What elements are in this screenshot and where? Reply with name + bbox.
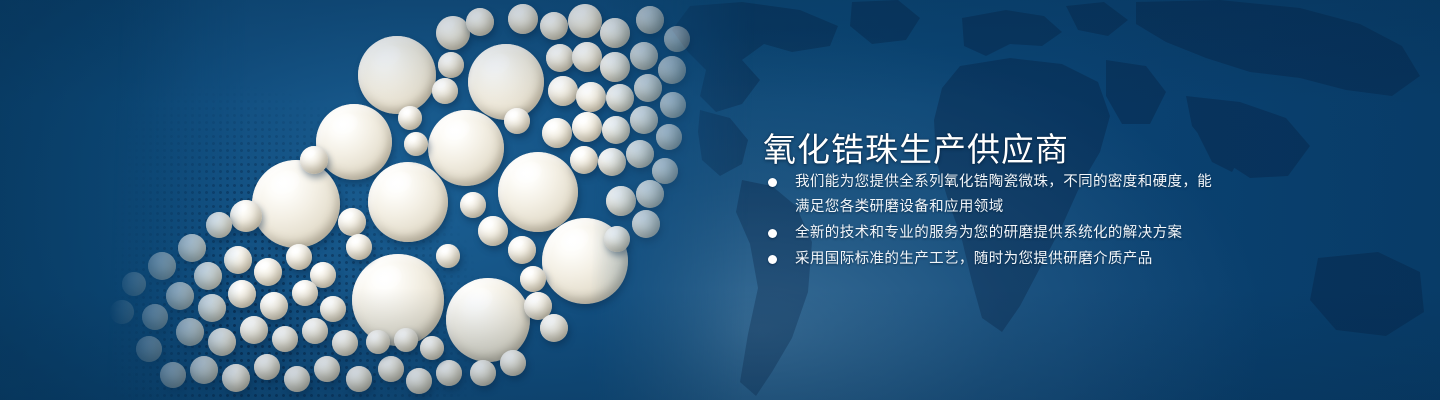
hero-banner: 氧化锆珠生产供应商 我们能为您提供全系列氧化锆陶瓷微珠，不同的密度和硬度，能满足… [0, 0, 1440, 400]
list-item-text: 采用国际标准的生产工艺，随时为您提供研磨介质产品 [795, 251, 1153, 267]
filled-circle-bullet-icon [768, 255, 777, 264]
list-item-text: 全新的技术和专业的服务为您的研磨提供系统化的解决方案 [795, 225, 1182, 241]
list-item: 采用国际标准的生产工艺，随时为您提供研磨介质产品 [768, 247, 1215, 272]
list-item: 我们能为您提供全系列氧化锆陶瓷微珠，不同的密度和硬度，能满足您各类研磨设备和应用… [768, 170, 1215, 220]
product-photo-zirconia-beads [0, 0, 760, 400]
banner-feature-list: 我们能为您提供全系列氧化锆陶瓷微珠，不同的密度和硬度，能满足您各类研磨设备和应用… [768, 170, 1215, 273]
filled-circle-bullet-icon [768, 178, 777, 187]
banner-headline: 氧化锆珠生产供应商 [763, 130, 1069, 170]
list-item: 全新的技术和专业的服务为您的研磨提供系统化的解决方案 [768, 221, 1215, 246]
bead-cluster [0, 0, 760, 400]
banner-text-block: 氧化锆珠生产供应商 我们能为您提供全系列氧化锆陶瓷微珠，不同的密度和硬度，能满足… [763, 0, 1323, 400]
list-item-text: 我们能为您提供全系列氧化锆陶瓷微珠，不同的密度和硬度，能满足您各类研磨设备和应用… [795, 174, 1212, 215]
filled-circle-bullet-icon [768, 229, 777, 238]
